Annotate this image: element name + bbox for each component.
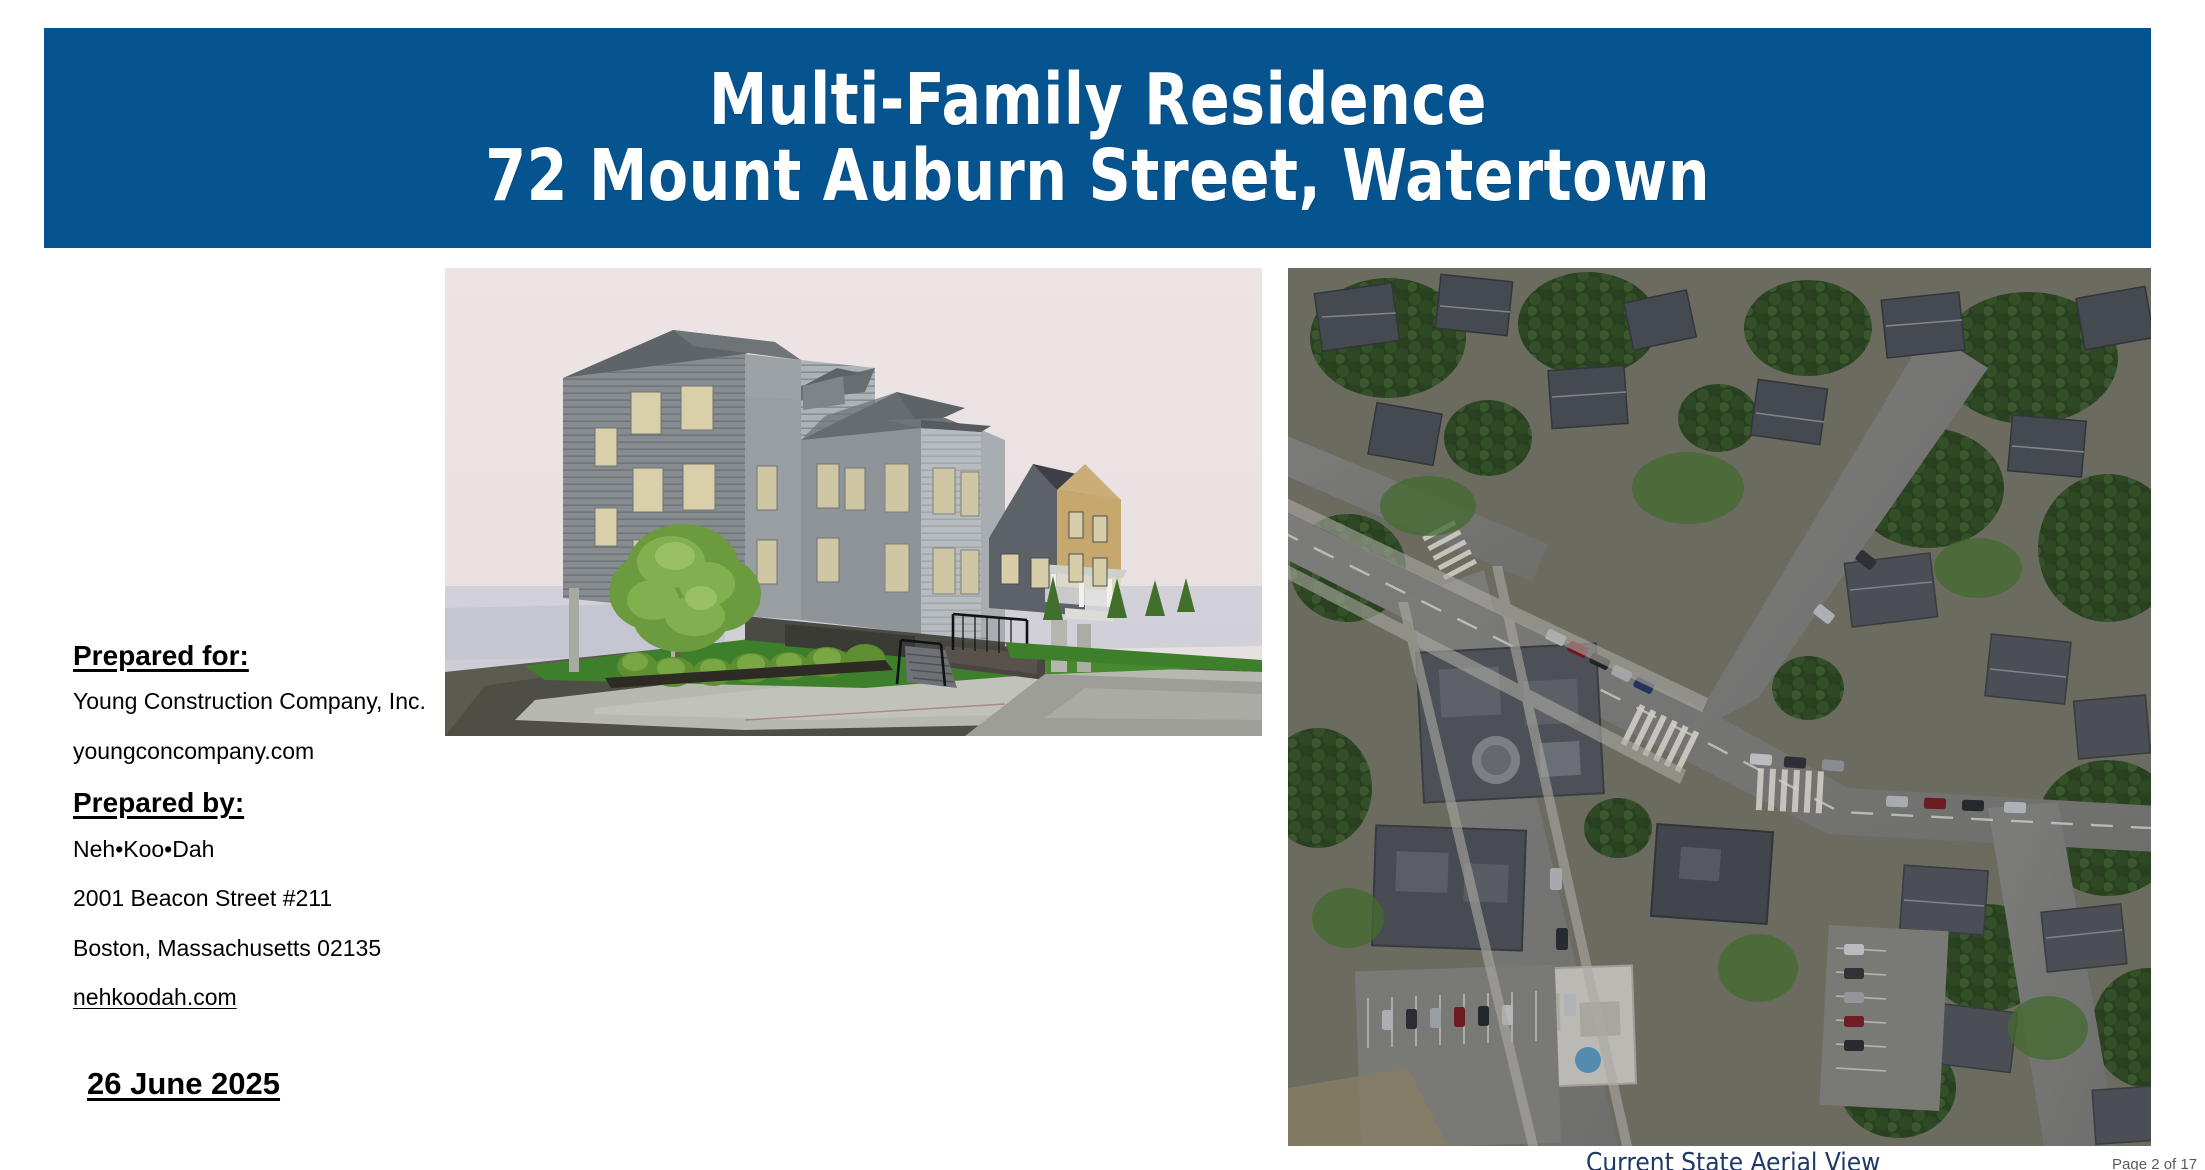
firm-address-line-2: Boston, Massachusetts 02135 <box>73 935 473 963</box>
slide-title-line-2: 72 Mount Auburn Street, Watertown <box>485 140 1710 212</box>
proposal-date: 26 June 2025 <box>87 1066 280 1102</box>
current-state-aerial-view <box>1288 268 2151 1146</box>
presentation-slide: Multi-Family Residence 72 Mount Auburn S… <box>0 0 2205 1170</box>
horizontal-scrollbar-track[interactable] <box>0 1133 2205 1151</box>
page-indicator: Page 2 of 17 <box>2112 1156 2197 1170</box>
prepared-by-heading: Prepared by: <box>73 787 473 819</box>
slide-title-line-1: Multi-Family Residence <box>708 64 1486 136</box>
client-name: Young Construction Company, Inc. <box>73 688 473 716</box>
aerial-view-caption: Current State Aerial View <box>1586 1148 1880 1170</box>
current-state-aerial-view-graphic <box>1288 268 2151 1146</box>
prepared-for-heading: Prepared for: <box>73 640 473 672</box>
firm-website-link[interactable]: nehkoodah.com <box>73 984 473 1012</box>
client-website[interactable]: youngconcompany.com <box>73 738 473 766</box>
architectural-3d-rendering-graphic <box>445 268 1262 736</box>
firm-address-line-1: 2001 Beacon Street #211 <box>73 885 473 913</box>
architectural-3d-rendering <box>445 268 1262 736</box>
project-info-block: Prepared for: Young Construction Company… <box>73 640 473 1102</box>
title-banner: Multi-Family Residence 72 Mount Auburn S… <box>44 28 2151 248</box>
firm-name: Neh•Koo•Dah <box>73 836 473 864</box>
